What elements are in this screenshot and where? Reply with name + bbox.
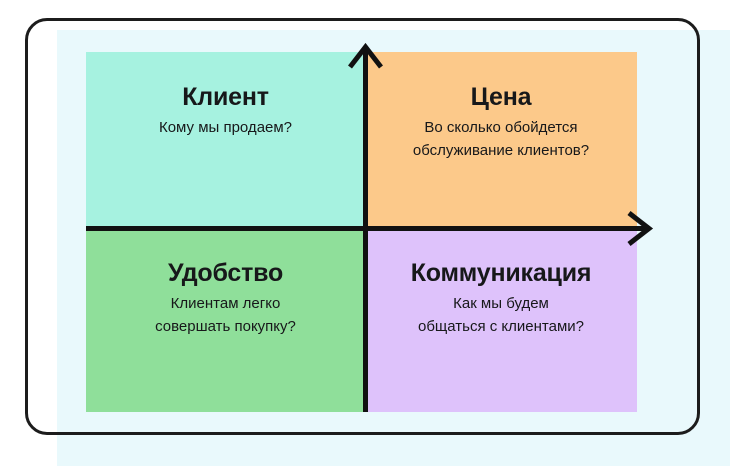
- quadrant-description-communication: Как мы будем общаться с клиентами?: [418, 293, 584, 338]
- diagram-canvas: Клиент Кому мы продаем? Цена Во сколько …: [0, 0, 730, 466]
- quadrant-top-right[interactable]: Цена Во сколько обойдется обслуживание к…: [365, 52, 637, 228]
- quadrant-title-communication: Коммуникация: [411, 260, 592, 286]
- quadrant-desc-line: общаться с клиентами?: [418, 318, 584, 335]
- quadrant-desc-line: Кому мы продаем?: [159, 119, 292, 136]
- quadrant-desc-line: Во сколько обойдется: [424, 119, 577, 136]
- quadrant-desc-line: Клиентам легко: [171, 295, 281, 312]
- quadrant-title-price: Цена: [471, 84, 532, 110]
- quadrant-desc-line: совершать покупку?: [155, 318, 296, 335]
- quadrant-title-client: Клиент: [182, 84, 269, 110]
- quadrant-description-client: Кому мы продаем?: [159, 117, 292, 140]
- quadrant-description-price: Во сколько обойдется обслуживание клиент…: [413, 117, 589, 162]
- quadrant-desc-line: обслуживание клиентов?: [413, 142, 589, 159]
- quadrant-bottom-right[interactable]: Коммуникация Как мы будем общаться с кли…: [365, 228, 637, 412]
- quadrant-title-convenience: Удобство: [168, 260, 283, 286]
- quadrant-top-left[interactable]: Клиент Кому мы продаем?: [86, 52, 365, 228]
- quadrant-bottom-left[interactable]: Удобство Клиентам легко совершать покупк…: [86, 228, 365, 412]
- quadrant-matrix: Клиент Кому мы продаем? Цена Во сколько …: [86, 52, 637, 412]
- quadrant-desc-line: Как мы будем: [453, 295, 549, 312]
- quadrant-description-convenience: Клиентам легко совершать покупку?: [155, 293, 296, 338]
